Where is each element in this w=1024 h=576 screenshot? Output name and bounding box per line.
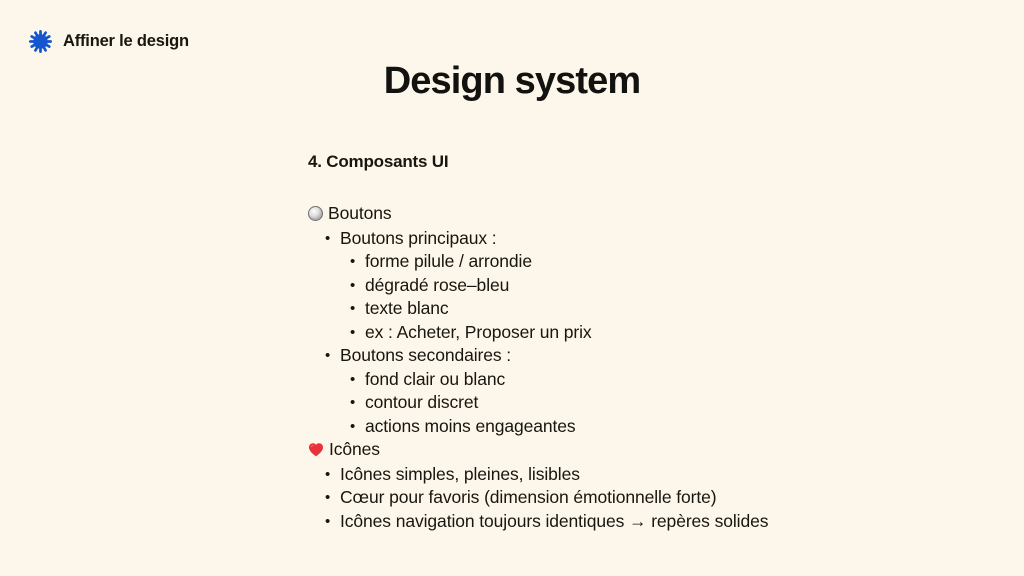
bullet-list-level-1: Icônes simples, pleines, lisiblesCœur po… bbox=[324, 463, 968, 534]
bullet-list-level-2: fond clair ou blanccontour discretaction… bbox=[349, 368, 968, 439]
sub-list-container: forme pilule / arrondiedégradé rose–bleu… bbox=[324, 250, 968, 344]
burst-flower-icon bbox=[28, 29, 53, 54]
list-item: texte blanc bbox=[349, 297, 968, 321]
group-list: BoutonsBoutons principaux :forme pilule … bbox=[308, 202, 968, 533]
list-item: ex : Acheter, Proposer un prix bbox=[349, 321, 968, 345]
bullet-list-level-1: Boutons principaux :forme pilule / arron… bbox=[324, 227, 968, 439]
list-item: Boutons principaux : bbox=[324, 227, 968, 251]
list-item: forme pilule / arrondie bbox=[349, 250, 968, 274]
group-label: Boutons bbox=[328, 202, 392, 226]
list-item: actions moins engageantes bbox=[349, 415, 968, 439]
list-item: fond clair ou blanc bbox=[349, 368, 968, 392]
section-heading: 4. Composants UI bbox=[308, 152, 968, 172]
sub-list-container: fond clair ou blanccontour discretaction… bbox=[324, 368, 968, 439]
group-row: Boutons bbox=[308, 202, 968, 226]
group-label: Icônes bbox=[329, 438, 380, 462]
slide-content: 4. Composants UI BoutonsBoutons principa… bbox=[308, 152, 968, 533]
list-item: Cœur pour favoris (dimension émotionnell… bbox=[324, 486, 968, 510]
list-item: contour discret bbox=[349, 391, 968, 415]
header-title: Affiner le design bbox=[63, 32, 189, 51]
list-item: Icônes simples, pleines, lisibles bbox=[324, 463, 968, 487]
header-bar: Affiner le design bbox=[28, 29, 189, 54]
list-item: dégradé rose–bleu bbox=[349, 274, 968, 298]
group-row: Icônes bbox=[308, 438, 968, 462]
red-heart-icon bbox=[308, 440, 324, 455]
list-item: Boutons secondaires : bbox=[324, 344, 968, 368]
list-item: Icônes navigation toujours identiques → … bbox=[324, 510, 968, 534]
radio-button-icon bbox=[308, 206, 323, 221]
page-title: Design system bbox=[0, 60, 1024, 103]
bullet-list-level-2: forme pilule / arrondiedégradé rose–bleu… bbox=[349, 250, 968, 344]
